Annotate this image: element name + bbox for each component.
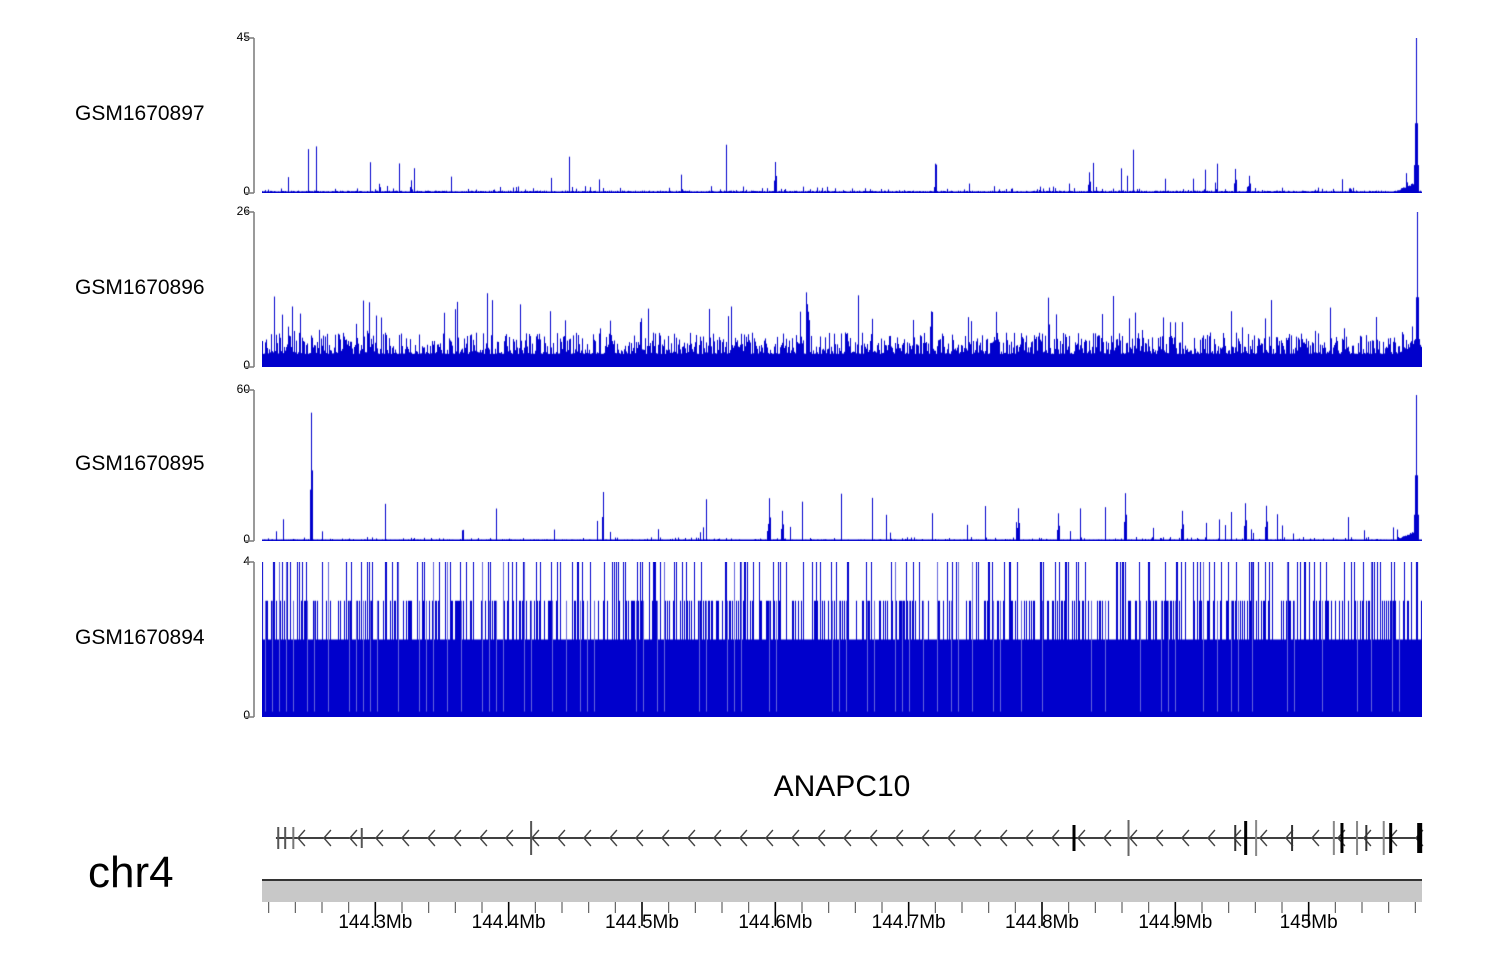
genomic-ruler[interactable] xyxy=(0,0,1500,980)
ruler-tick-label: 144.8Mb xyxy=(972,912,1112,934)
ruler-tick-label: 145Mb xyxy=(1239,912,1379,934)
ideogram-bar xyxy=(262,880,1422,902)
ruler-tick-label: 144.4Mb xyxy=(439,912,579,934)
ruler-tick-label: 144.7Mb xyxy=(839,912,979,934)
ruler-tick-label: 144.9Mb xyxy=(1105,912,1245,934)
ruler-tick-label: 144.3Mb xyxy=(305,912,445,934)
ruler-tick-label: 144.5Mb xyxy=(572,912,712,934)
genome-browser-view: GSM1670897450GSM1670896260GSM1670895600G… xyxy=(0,0,1500,980)
ruler-tick-label: 144.6Mb xyxy=(705,912,845,934)
